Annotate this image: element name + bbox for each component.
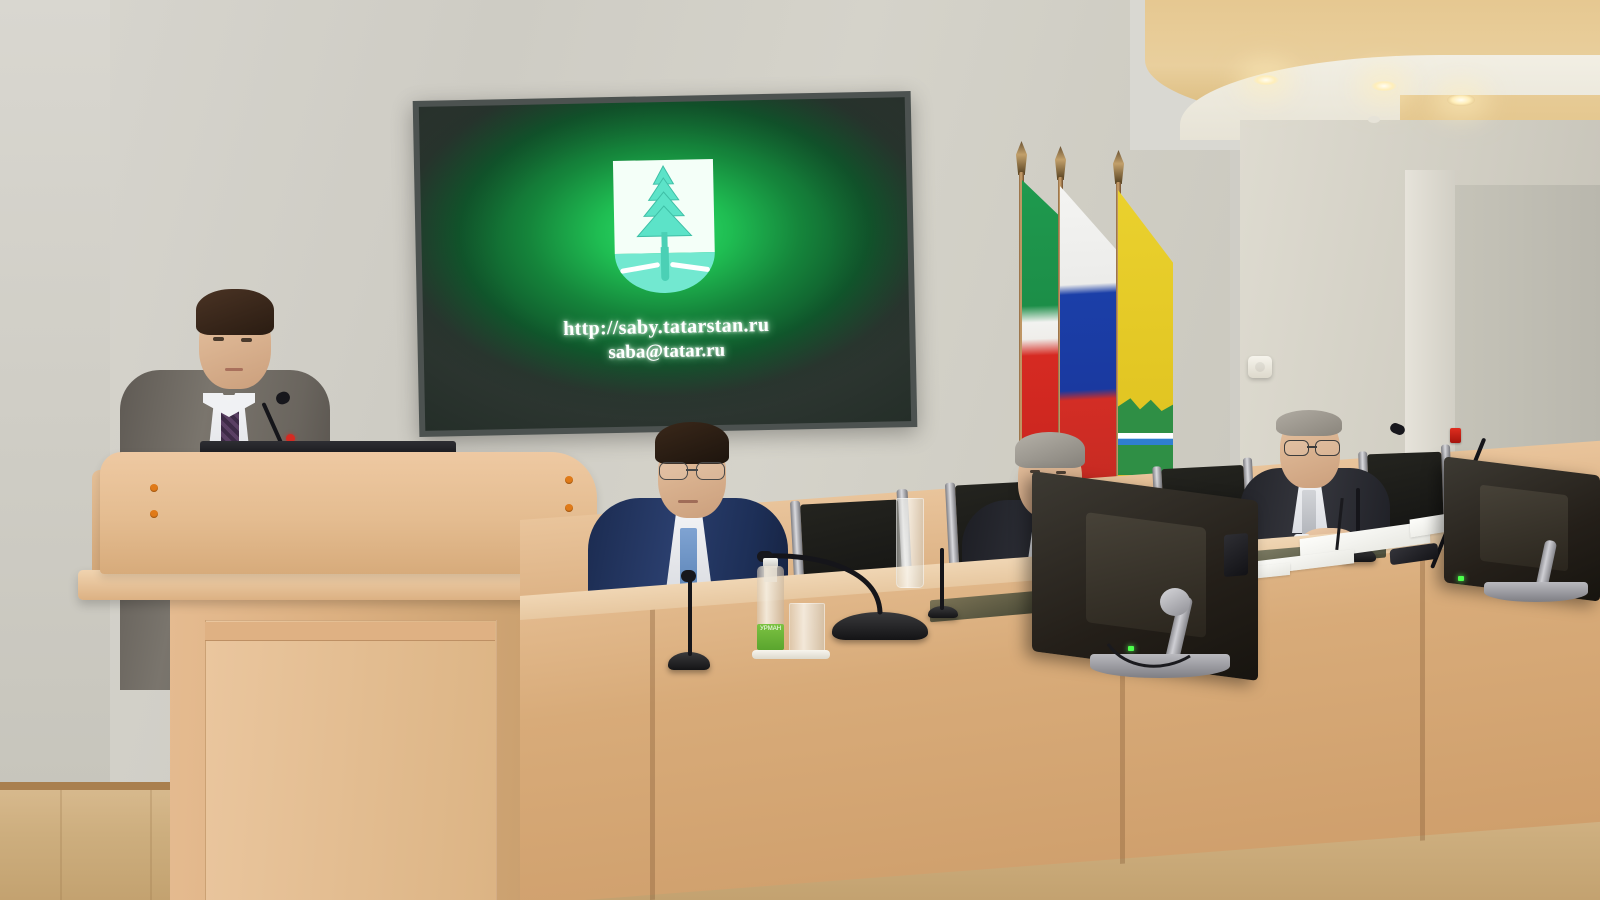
lcd-monitor-rear-view[interactable] xyxy=(1444,466,1600,608)
drinking-glass[interactable] xyxy=(896,498,924,588)
drinking-glass[interactable] xyxy=(789,603,825,657)
podium-screw-cap xyxy=(150,510,158,518)
monitor-stand-joint xyxy=(1160,588,1190,616)
crest-wave-right xyxy=(670,262,710,272)
speaker-eye-right xyxy=(241,338,252,342)
table-panel-seam xyxy=(1420,550,1425,840)
saba-district-coat-of-arms xyxy=(613,159,716,294)
microphone-capsule xyxy=(681,570,696,582)
crest-base xyxy=(615,252,716,294)
eyeglasses-icon xyxy=(1284,440,1340,454)
left-wall xyxy=(0,0,110,830)
screen-contact-text: http://saby.tatarstan.ru saba@tatar.ru xyxy=(423,311,910,368)
eyeglasses-icon xyxy=(659,462,725,478)
speaker-mouth xyxy=(225,368,243,371)
wall-speaker xyxy=(1248,356,1272,378)
ceiling-smoke-detector xyxy=(1368,116,1380,123)
lcd-monitor-rear-view[interactable] xyxy=(1032,486,1258,682)
desk-device xyxy=(1224,533,1248,577)
gooseneck-microphone[interactable] xyxy=(688,578,692,656)
projection-screen-content: http://saby.tatarstan.ru saba@tatar.ru xyxy=(419,97,911,431)
monitor-power-led xyxy=(1458,576,1464,581)
podium-screw-cap xyxy=(150,484,158,492)
podium-screw-cap xyxy=(565,476,573,484)
conference-hall-photo: http://saby.tatarstan.ru saba@tatar.ru xyxy=(0,0,1600,900)
recessed-downlight xyxy=(1447,94,1475,106)
center-official-hair xyxy=(655,422,729,464)
monitor-stand-base xyxy=(1484,582,1588,602)
right-official-hair xyxy=(1276,410,1342,436)
bottle-brand-label: УРМАН xyxy=(757,624,784,650)
crest-trunk xyxy=(661,247,670,281)
fir-tree-icon xyxy=(613,159,715,254)
center-official-mouth xyxy=(678,500,698,503)
fire-alarm-call-point[interactable] xyxy=(1450,428,1461,443)
monitor-rear-bulge xyxy=(1480,485,1568,572)
podium-front-panel xyxy=(205,620,497,900)
podium-panel-rail xyxy=(205,622,495,641)
bottle-neck xyxy=(764,566,777,582)
speaker-eye-left xyxy=(213,337,224,341)
water-bottle[interactable]: УРМАН xyxy=(757,566,784,656)
podium-screw-cap xyxy=(565,504,573,512)
crest-field xyxy=(613,159,715,254)
monitor-cable xyxy=(1106,642,1192,672)
second-official-hair xyxy=(1015,432,1085,468)
speaker-hair xyxy=(196,289,274,335)
table-panel-seam xyxy=(650,610,655,900)
recessed-downlight xyxy=(1370,80,1398,92)
crest-wave-left xyxy=(620,262,660,274)
gooseneck-microphone[interactable] xyxy=(940,548,944,610)
projection-screen: http://saby.tatarstan.ru saba@tatar.ru xyxy=(413,91,918,437)
recessed-downlight xyxy=(1252,74,1280,86)
glass-coaster xyxy=(752,650,830,659)
